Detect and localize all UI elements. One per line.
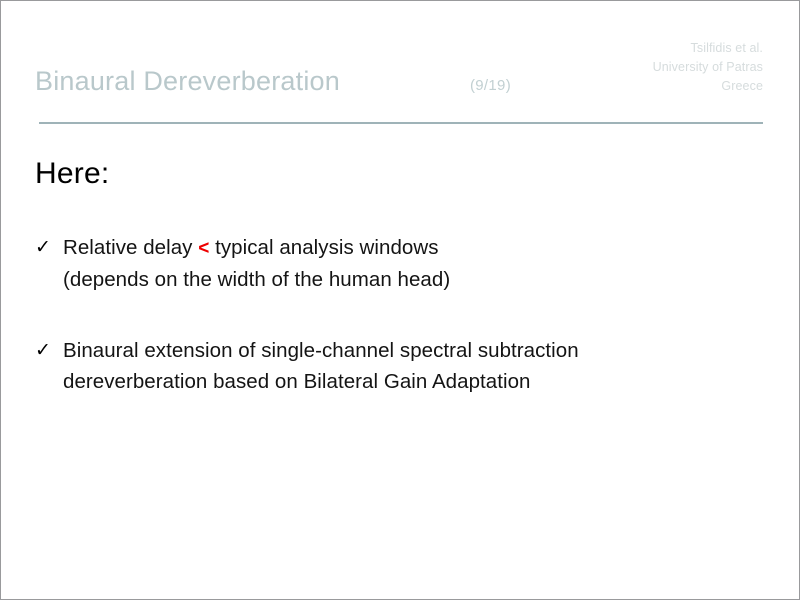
bullet-item-1: ✓ Relative delay < typical analysis wind… <box>1 232 800 295</box>
bullet-text-before-operator: Relative delay <box>63 236 198 259</box>
bullet-item-2: ✓ Binaural extension of single-channel s… <box>1 335 800 397</box>
checkmark-icon: ✓ <box>35 234 51 261</box>
less-than-operator: < <box>198 238 209 259</box>
affiliation-institution: University of Patras <box>653 58 763 77</box>
bullet-line: dereverberation based on Bilateral Gain … <box>63 366 800 397</box>
slide-title: Binaural Dereverberation <box>35 67 340 97</box>
bullet-line: Relative delay < typical analysis window… <box>63 232 800 264</box>
bullet-list: ✓ Relative delay < typical analysis wind… <box>1 232 800 437</box>
checkmark-icon: ✓ <box>35 337 51 364</box>
affiliation-block: Tsilfidis et al. University of Patras Gr… <box>653 39 763 96</box>
slide-header: Binaural Dereverberation (9/19) Tsilfidi… <box>1 1 800 125</box>
bullet-line: Binaural extension of single-channel spe… <box>63 335 800 366</box>
body-heading: Here: <box>35 157 109 191</box>
bullet-text-2: Binaural extension of single-channel spe… <box>63 335 800 397</box>
affiliation-authors: Tsilfidis et al. <box>653 39 763 58</box>
bullet-line: (depends on the width of the human head) <box>63 264 800 295</box>
affiliation-country: Greece <box>653 77 763 96</box>
slide-body: Here: ✓ Relative delay < typical analysi… <box>1 125 800 599</box>
bullet-text-1: Relative delay < typical analysis window… <box>63 232 800 295</box>
page-indicator: (9/19) <box>470 77 511 94</box>
bullet-text-after-operator: typical analysis windows <box>209 236 438 259</box>
header-divider <box>39 122 763 124</box>
presentation-slide: Binaural Dereverberation (9/19) Tsilfidi… <box>0 0 800 600</box>
